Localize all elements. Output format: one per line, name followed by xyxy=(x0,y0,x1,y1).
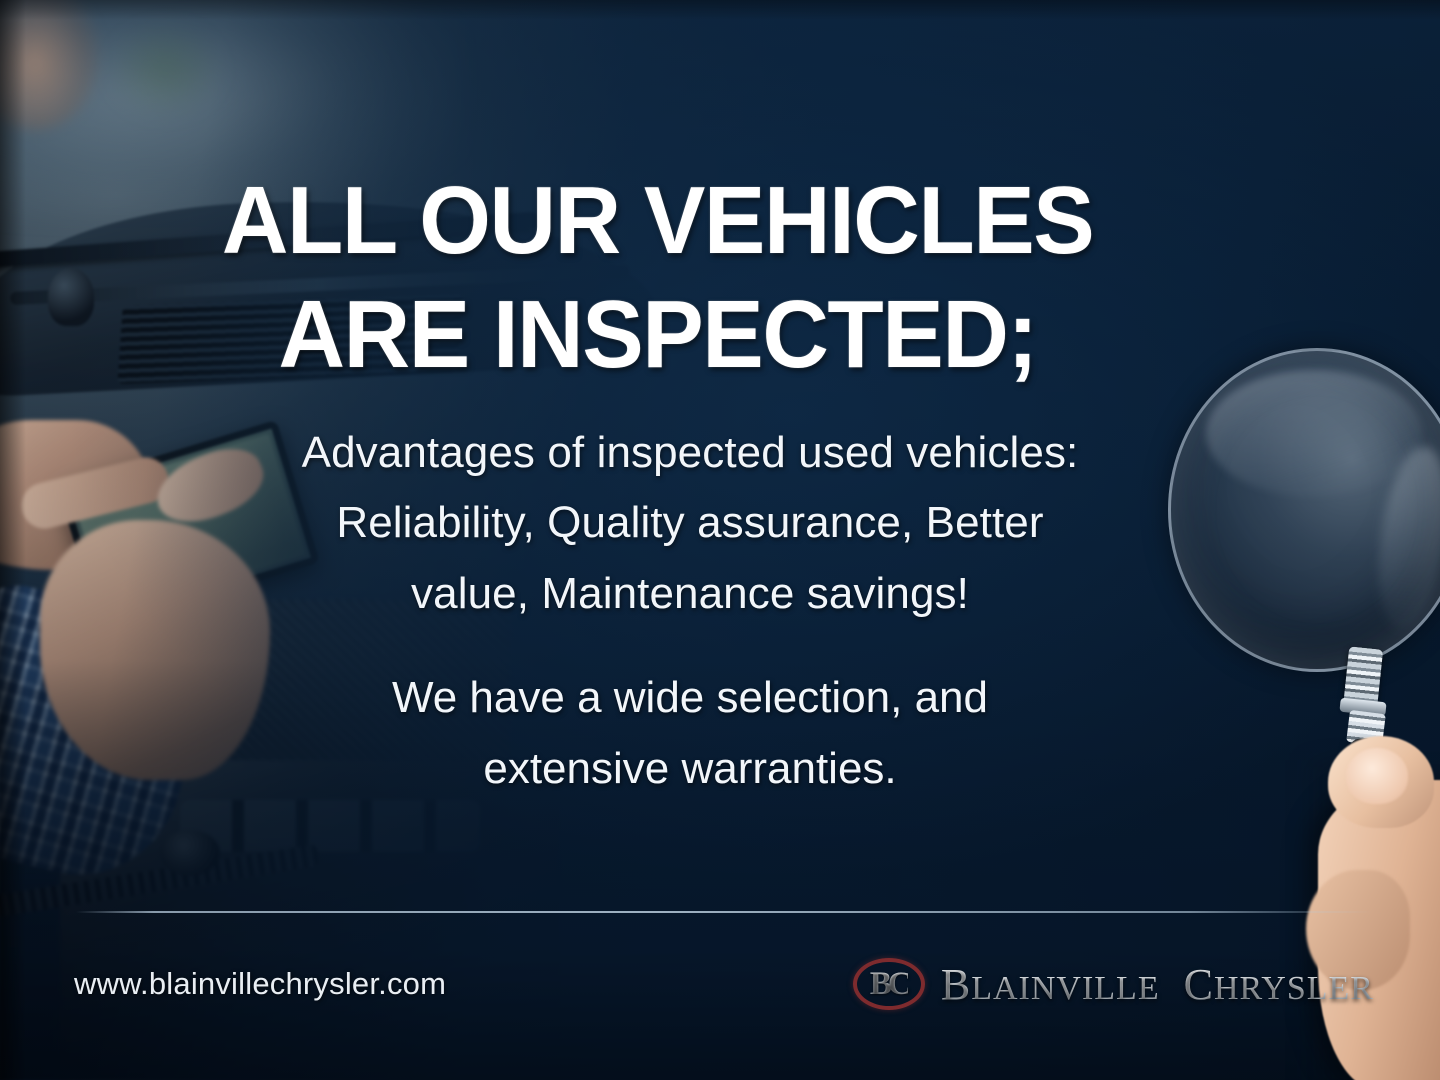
logo-monogram-mark: BC xyxy=(853,958,925,1010)
body-p2-line-1: We have a wide selection, and xyxy=(190,662,1190,733)
footer-divider xyxy=(76,911,1372,913)
body-paragraph-2: We have a wide selection, and extensive … xyxy=(190,662,1190,805)
top-edge-vignette xyxy=(0,0,1440,20)
slide-content: ALL OUR VEHICLES ARE INSPECTED; Advantag… xyxy=(0,0,1440,1080)
body-p2-line-2: extensive warranties. xyxy=(190,733,1190,804)
logo-word-hrysler: HRYSLER xyxy=(1214,970,1374,1007)
logo-wordmark: BLAINVILLE CHRYSLER xyxy=(941,959,1374,1010)
logo-monogram-text: BC xyxy=(870,966,908,1003)
slide-canvas: ALL OUR VEHICLES ARE INSPECTED; Advantag… xyxy=(0,0,1440,1080)
headline-line-2: ARE INSPECTED; xyxy=(29,278,1287,391)
body-paragraph-1: Advantages of inspected used vehicles: R… xyxy=(190,418,1190,629)
left-edge-vignette xyxy=(0,0,26,1080)
body-p1-line-1: Advantages of inspected used vehicles: xyxy=(190,418,1190,488)
page-title: ALL OUR VEHICLES ARE INSPECTED; xyxy=(29,164,1411,391)
headline-line-1: ALL OUR VEHICLES xyxy=(29,164,1287,277)
logo-word-c: C xyxy=(1184,960,1214,1009)
body-p1-line-3: value, Maintenance savings! xyxy=(190,559,1190,629)
logo-word-b: B xyxy=(941,960,971,1009)
brand-logo: BC BLAINVILLE CHRYSLER xyxy=(853,958,1374,1010)
website-url[interactable]: www.blainvillechrysler.com xyxy=(74,966,446,1002)
body-p1-line-2: Reliability, Quality assurance, Better xyxy=(190,488,1190,558)
logo-word-lainville: LAINVILLE xyxy=(971,970,1159,1007)
